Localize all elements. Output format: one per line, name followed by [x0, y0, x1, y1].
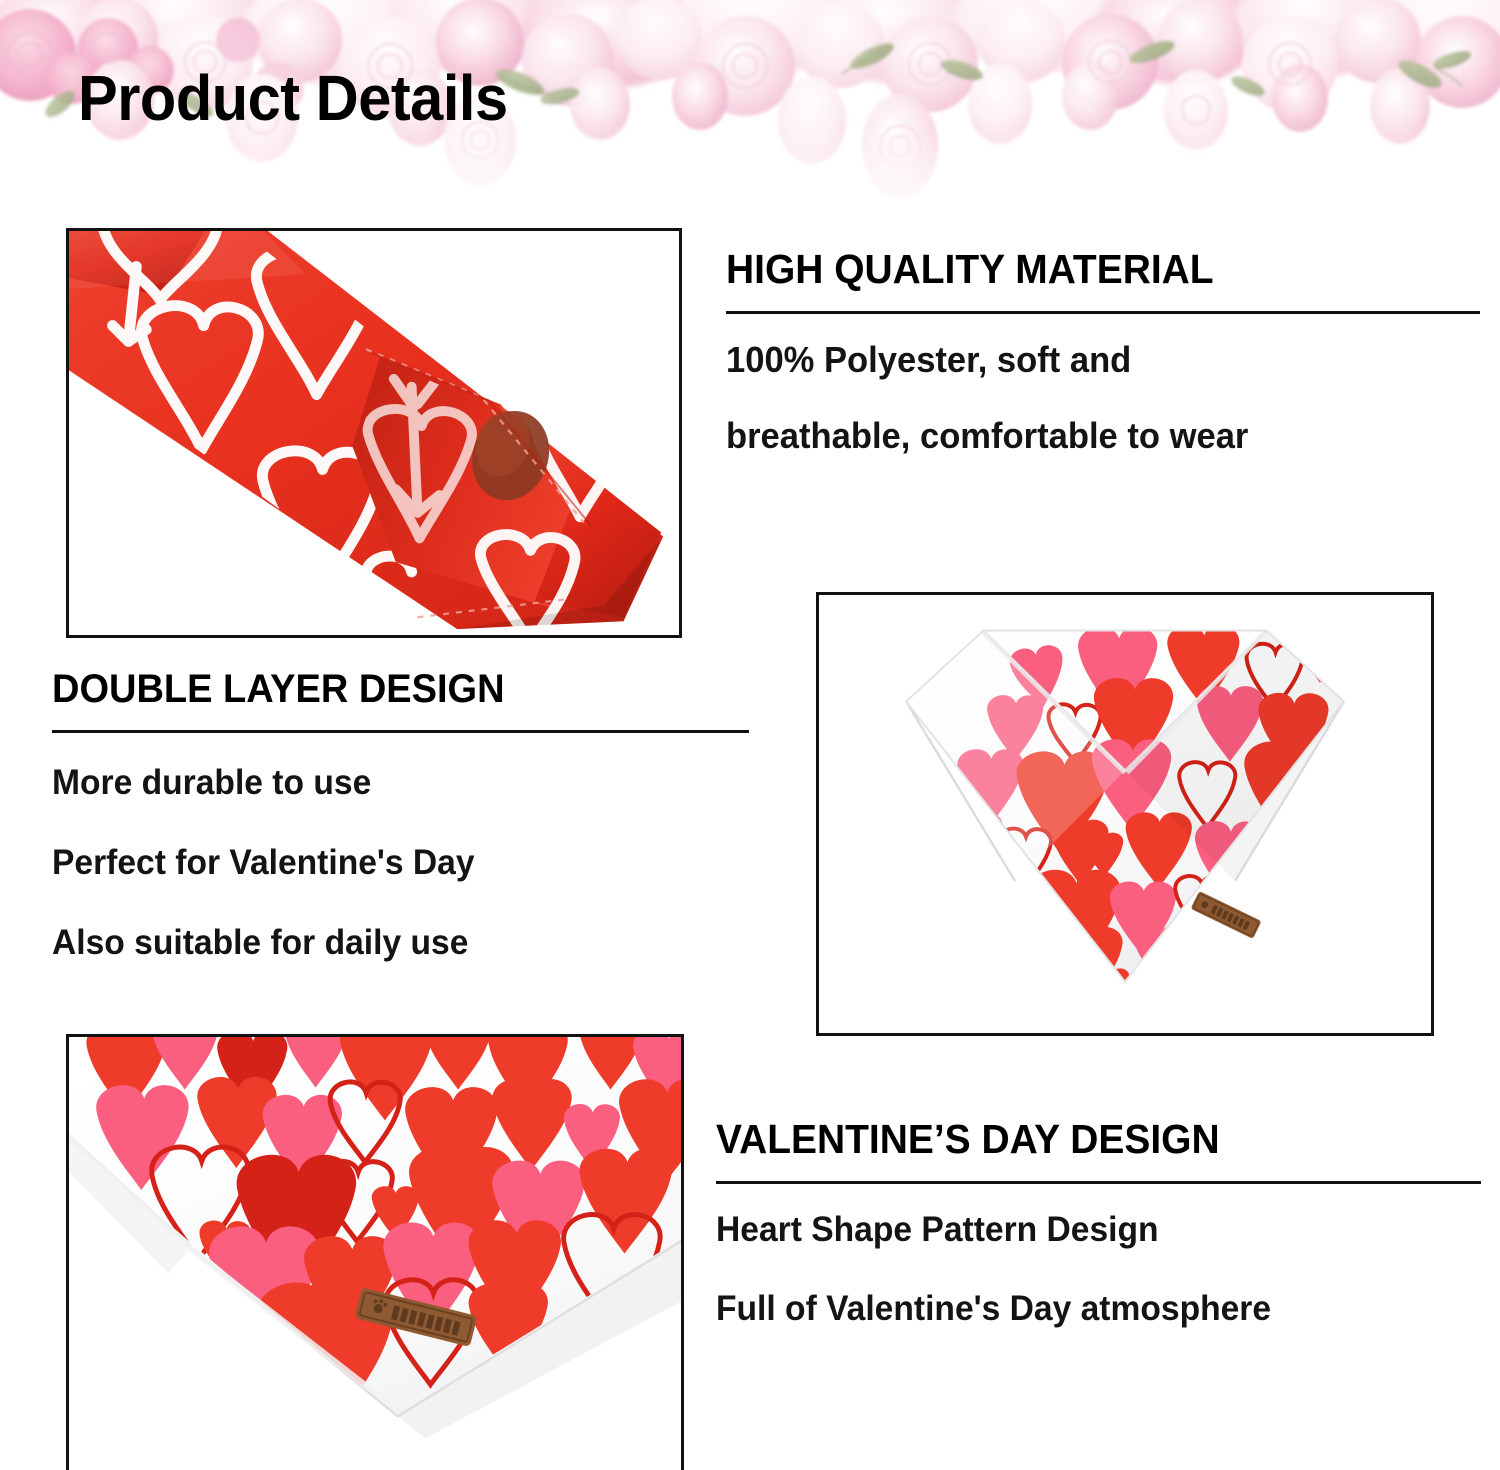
section-double-layer-design: DOUBLE LAYER DESIGN More durable to use … [52, 668, 752, 1005]
section-heading: HIGH QUALITY MATERIAL [726, 248, 1444, 291]
section-line: 100% Polyester, soft and [726, 342, 1452, 378]
flat-bandana-illustration [69, 1037, 681, 1470]
section-high-quality-material: HIGH QUALITY MATERIAL 100% Polyester, so… [726, 248, 1482, 494]
section-divider [716, 1181, 1481, 1184]
section-line: Perfect for Valentine's Day [52, 845, 724, 880]
section-heading: DOUBLE LAYER DESIGN [52, 668, 717, 710]
section-valentines-day-design: VALENTINE’S DAY DESIGN Heart Shape Patte… [716, 1118, 1482, 1370]
section-line: Heart Shape Pattern Design [716, 1212, 1451, 1247]
section-line: More durable to use [52, 765, 724, 800]
section-divider [726, 311, 1480, 314]
section-line: Full of Valentine's Day atmosphere [716, 1291, 1451, 1326]
product-photo-flat-bandana [66, 1034, 684, 1470]
product-photo-folded-bandana [816, 592, 1434, 1036]
section-divider [52, 730, 749, 733]
page-title: Product Details [78, 66, 508, 130]
section-line: breathable, comfortable to wear [726, 418, 1452, 454]
section-heading: VALENTINE’S DAY DESIGN [716, 1118, 1444, 1161]
section-line: Also suitable for daily use [52, 925, 724, 960]
folded-bandana-illustration [819, 595, 1431, 1033]
section-body: More durable to use Perfect for Valentin… [52, 765, 752, 960]
section-body: 100% Polyester, soft and breathable, com… [726, 342, 1482, 454]
red-bandana-illustration [69, 231, 679, 635]
section-body: Heart Shape Pattern Design Full of Valen… [716, 1212, 1482, 1326]
product-photo-red-bandana [66, 228, 682, 638]
